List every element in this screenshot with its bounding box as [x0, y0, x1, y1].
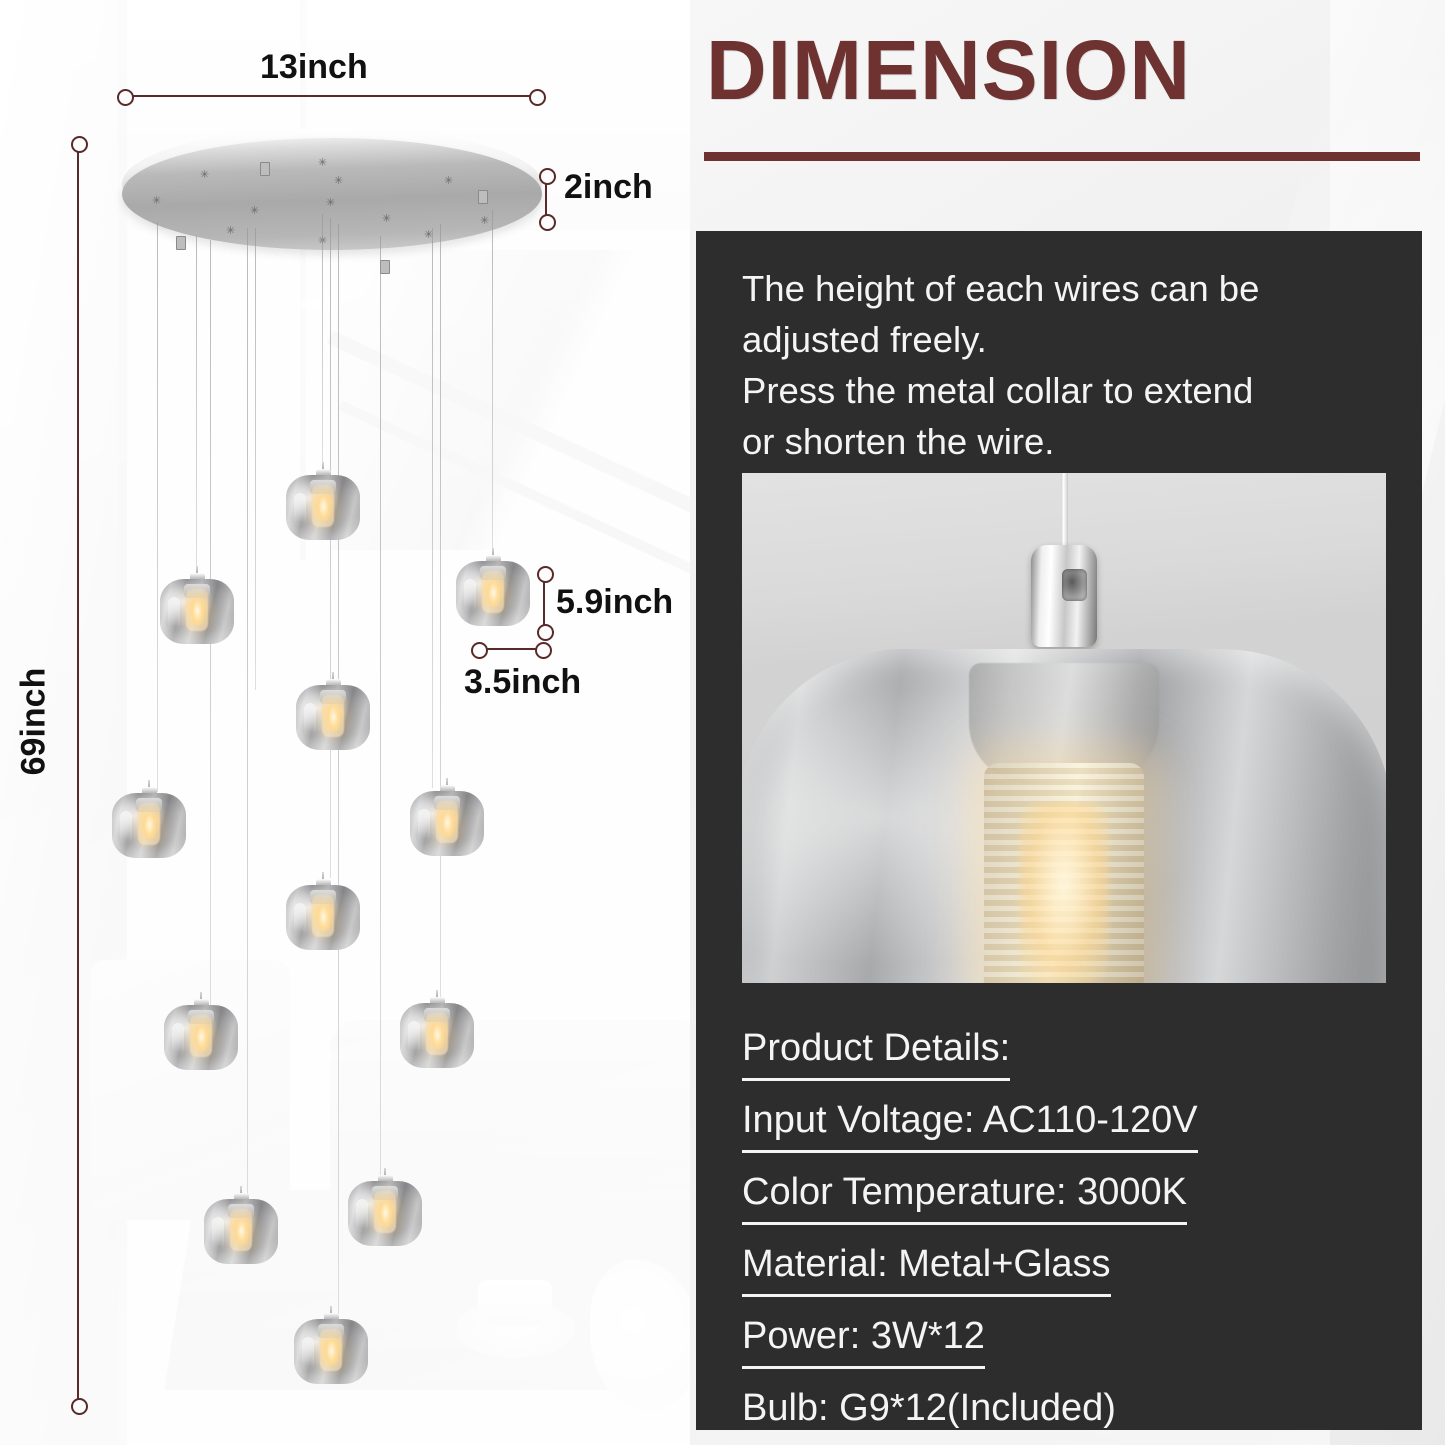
pendant-highlight: [294, 903, 306, 937]
dimension-label-canopy-depth: 2inch: [564, 168, 653, 207]
product-details-heading-text: Product Details:: [742, 1021, 1010, 1081]
dimension-label-shade-width: 3.5inch: [464, 663, 581, 702]
photo-collar-button-icon: [1062, 569, 1087, 601]
pendant-glass-shade: [294, 1319, 368, 1384]
canopy-screw-icon: ✳: [226, 226, 235, 235]
dimension-endpoint: [535, 642, 552, 659]
pendant-highlight: [120, 811, 132, 845]
canopy-screw-icon: ✳: [334, 176, 343, 185]
instruction-line: or shorten the wire.: [742, 416, 1392, 467]
product-detail-row: Material: Metal+Glass: [742, 1237, 1402, 1297]
pendant-light: [164, 992, 238, 1070]
dimension-endpoint: [537, 624, 554, 641]
pendant-glass-shade: [348, 1181, 422, 1246]
dimension-endpoint: [471, 642, 488, 659]
pendant-glass-shade: [456, 561, 530, 626]
instruction-line: Press the metal collar to extend: [742, 365, 1392, 416]
canopy-clip-icon: [176, 236, 186, 250]
suspension-wire: [380, 236, 381, 1176]
dimension-label-shade-height: 5.9inch: [556, 583, 673, 622]
pendant-highlight: [294, 493, 306, 527]
instruction-note: The height of each wires can be adjusted…: [742, 263, 1392, 467]
suspension-wire: [338, 224, 339, 1314]
right-column: DIMENSION The height of each wires can b…: [690, 0, 1445, 1445]
instruction-line: The height of each wires can be: [742, 263, 1392, 314]
suspension-wire: [157, 222, 158, 792]
dimension-line-width: [124, 95, 536, 97]
canopy-clip-icon: [478, 190, 488, 204]
pendant-highlight: [302, 1337, 314, 1371]
pendant-bulb: [191, 599, 204, 625]
pendant-bulb: [317, 495, 330, 521]
pendant-light: [400, 990, 474, 1068]
pendant-bulb: [235, 1219, 248, 1245]
suspension-wire: [196, 236, 197, 581]
pendant-bulb: [317, 905, 330, 931]
pendant-glass-shade: [286, 475, 360, 540]
dimension-line-shade-width: [479, 648, 541, 650]
pendant-bulb: [379, 1201, 392, 1227]
dimension-endpoint: [71, 1398, 88, 1415]
pendant-highlight: [408, 1021, 420, 1055]
pendant-light: [348, 1168, 422, 1246]
product-details-list: Product Details: Input Voltage: AC110-12…: [742, 1021, 1402, 1445]
pendant-highlight: [304, 703, 316, 737]
product-details-heading: Product Details:: [742, 1021, 1402, 1081]
canopy-screw-icon: ✳: [382, 214, 391, 223]
instruction-line: adjusted freely.: [742, 314, 1392, 365]
canopy-screw-icon: ✳: [444, 176, 453, 185]
dimension-line-total-height: [77, 148, 79, 1406]
pendant-light: [286, 872, 360, 950]
canopy-clip-icon: [260, 162, 270, 176]
suspension-wire: [330, 218, 331, 878]
canopy-screw-icon: ✳: [200, 170, 209, 179]
dimension-label-total-height: 69inch: [14, 668, 53, 776]
pendant-glass-shade: [286, 885, 360, 950]
pendant-light: [286, 462, 360, 540]
pendant-glass-shade: [164, 1005, 238, 1070]
canopy-screw-icon: ✳: [480, 216, 489, 225]
product-detail-color-temperature: Color Temperature: 3000K: [742, 1165, 1187, 1225]
pendant-highlight: [172, 1023, 184, 1057]
suspension-wire: [247, 228, 248, 1228]
product-detail-row: Power: 3W*12: [742, 1309, 1402, 1369]
pendant-highlight: [464, 579, 476, 613]
dimension-endpoint: [537, 566, 554, 583]
product-detail-row: Input Voltage: AC110-120V: [742, 1093, 1402, 1153]
dimension-endpoint: [529, 89, 546, 106]
pendant-highlight: [212, 1217, 224, 1251]
suspension-wire: [255, 228, 256, 690]
pendant-light: [456, 548, 530, 626]
canopy-clip-icon: [380, 260, 390, 274]
ceiling-canopy-plate: ✳ ✳ ✳ ✳ ✳ ✳ ✳ ✳ ✳ ✳ ✳ ✳: [122, 128, 542, 256]
pendant-glass-shade: [296, 685, 370, 750]
dimension-endpoint: [117, 89, 134, 106]
page-title: DIMENSION: [706, 28, 1426, 112]
suspension-wire: [322, 214, 323, 464]
pendant-light: [112, 780, 186, 858]
pendant-glass-shade: [400, 1003, 474, 1068]
canopy-screw-icon: ✳: [152, 196, 161, 205]
product-detail-material: Material: Metal+Glass: [742, 1237, 1111, 1297]
pendant-light: [294, 1306, 368, 1384]
photo-suspension-wire: [1061, 473, 1068, 551]
dimension-endpoint: [71, 136, 88, 153]
suspension-wire: [492, 210, 493, 550]
canopy-screw-icon: ✳: [326, 198, 335, 207]
pendant-bulb: [441, 811, 454, 837]
dimension-label-width: 13inch: [260, 48, 368, 87]
metal-collar-photo: [742, 473, 1386, 983]
title-underline-rule: [704, 152, 1420, 161]
canopy-screw-icon: ✳: [250, 206, 259, 215]
product-detail-power: Power: 3W*12: [742, 1309, 985, 1369]
pendant-light: [296, 672, 370, 750]
pendant-highlight: [168, 597, 180, 631]
dimension-endpoint: [539, 168, 556, 185]
pendant-glass-shade: [204, 1199, 278, 1264]
canopy-screw-icon: ✳: [318, 158, 327, 167]
pendant-bulb: [195, 1025, 208, 1051]
pendant-bulb: [143, 813, 156, 839]
photo-bulb-glow: [1019, 803, 1109, 983]
pendant-light: [160, 566, 234, 644]
product-detail-input-voltage: Input Voltage: AC110-120V: [742, 1093, 1198, 1153]
product-detail-row: Color Temperature: 3000K: [742, 1165, 1402, 1225]
pendant-highlight: [356, 1199, 368, 1233]
pendant-bulb: [327, 705, 340, 731]
product-detail-bulb: Bulb: G9*12(Included): [742, 1381, 1116, 1441]
pendant-bulb: [487, 581, 500, 607]
pendant-glass-shade: [112, 793, 186, 858]
pendant-light: [204, 1186, 278, 1264]
info-panel: The height of each wires can be adjusted…: [696, 231, 1422, 1430]
product-detail-row: Bulb: G9*12(Included): [742, 1381, 1402, 1441]
pendant-glass-shade: [410, 791, 484, 856]
suspension-wire: [432, 228, 433, 788]
pendant-glass-shade: [160, 579, 234, 644]
infographic-canvas: ✳ ✳ ✳ ✳ ✳ ✳ ✳ ✳ ✳ ✳ ✳ ✳: [0, 0, 1445, 1445]
suspension-wire: [440, 224, 441, 1006]
pendant-bulb: [325, 1339, 338, 1365]
pendant-light: [410, 778, 484, 856]
pendant-highlight: [418, 809, 430, 843]
pendant-bulb: [431, 1023, 444, 1049]
dimension-endpoint: [539, 214, 556, 231]
